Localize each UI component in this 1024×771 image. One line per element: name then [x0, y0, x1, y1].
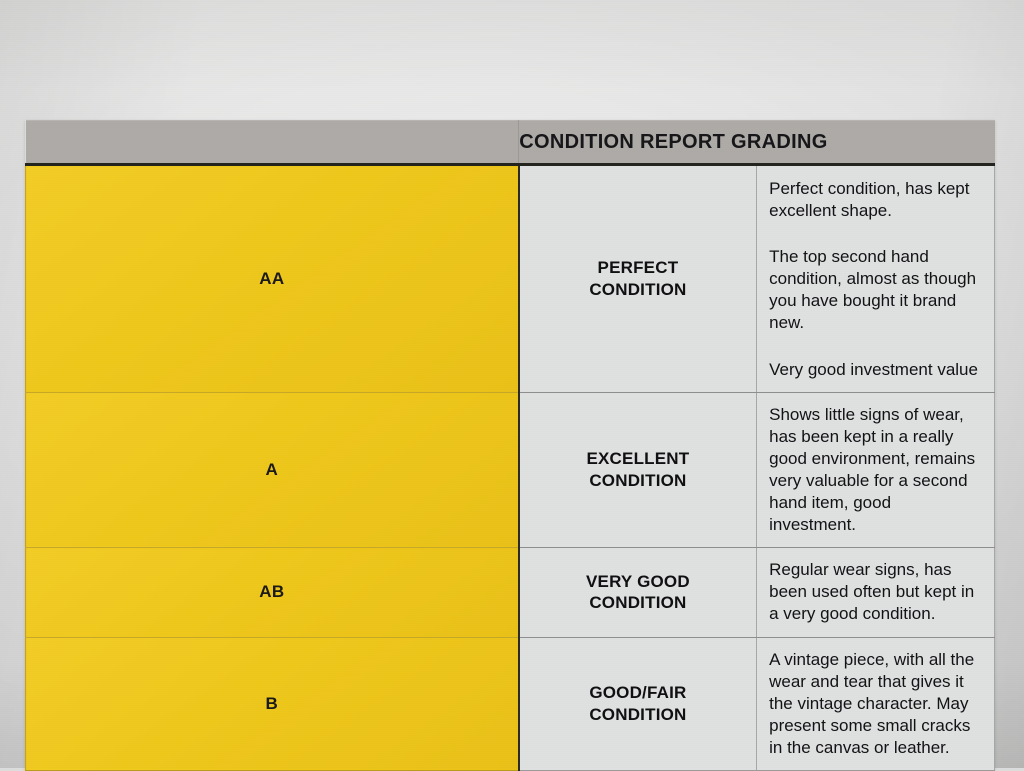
grade-code-b: B	[26, 637, 519, 770]
condition-name-b: GOOD/FAIR CONDITION	[519, 637, 757, 770]
condition-name-line-2: CONDITION	[589, 593, 686, 612]
table-row: A EXCELLENT CONDITION Shows little signs…	[26, 392, 995, 548]
description-paragraph: The top second hand condition, almost as…	[769, 246, 980, 334]
table-header-row: CONDITION REPORT GRADING	[26, 121, 995, 165]
grade-code-aa: AA	[26, 165, 519, 393]
condition-name-line-2: CONDITION	[589, 280, 686, 299]
condition-name-line-1: EXCELLENT	[586, 449, 689, 468]
condition-name-line-1: VERY GOOD	[586, 572, 690, 591]
condition-description-ab: Regular wear signs, has been used often …	[757, 548, 995, 637]
description-paragraph: A vintage piece, with all the wear and t…	[769, 649, 980, 759]
condition-name-aa: PERFECT CONDITION	[519, 165, 757, 393]
condition-name-line-1: GOOD/FAIR	[589, 683, 686, 702]
condition-name-a: EXCELLENT CONDITION	[519, 392, 757, 548]
condition-name-ab: VERY GOOD CONDITION	[519, 548, 757, 637]
table-row: B GOOD/FAIR CONDITION A vintage piece, w…	[26, 637, 995, 770]
grade-code-a: A	[26, 392, 519, 548]
grade-code-ab: AB	[26, 548, 519, 637]
description-paragraph: Perfect condition, has kept excellent sh…	[769, 178, 980, 222]
table-row: AB VERY GOOD CONDITION Regular wear sign…	[26, 548, 995, 637]
description-paragraph: Regular wear signs, has been used often …	[769, 559, 980, 625]
description-paragraph: Shows little signs of wear, has been kep…	[769, 404, 980, 537]
table-title: CONDITION REPORT GRADING	[519, 121, 995, 165]
condition-report-grading-table: CONDITION REPORT GRADING AA PERFECT COND…	[25, 120, 995, 771]
table-head: CONDITION REPORT GRADING	[26, 121, 995, 165]
header-grade-spacer	[26, 121, 519, 165]
description-paragraph: Very good investment value	[769, 359, 980, 381]
condition-name-line-1: PERFECT	[598, 258, 679, 277]
table-row: AA PERFECT CONDITION Perfect condition, …	[26, 165, 995, 393]
condition-description-b: A vintage piece, with all the wear and t…	[757, 637, 995, 770]
condition-description-a: Shows little signs of wear, has been kep…	[757, 392, 995, 548]
condition-description-aa: Perfect condition, has kept excellent sh…	[757, 165, 995, 393]
table-body: AA PERFECT CONDITION Perfect condition, …	[26, 165, 995, 771]
condition-name-line-2: CONDITION	[589, 705, 686, 724]
condition-name-line-2: CONDITION	[589, 471, 686, 490]
